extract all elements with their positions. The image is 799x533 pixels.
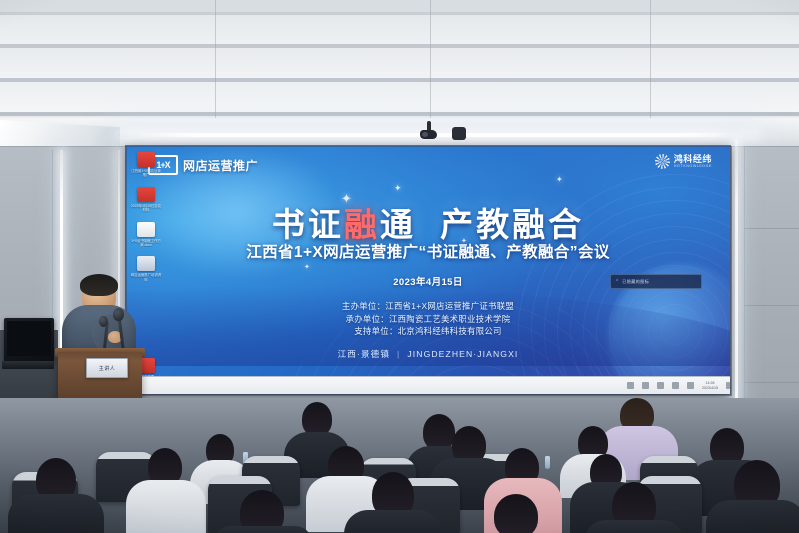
- tray-tooltip-label: 已隐藏的图标: [622, 279, 649, 285]
- screen-logo-right: 鸿科经纬 HOTKNOWLEDGE: [655, 154, 712, 169]
- place-en: JINGDEZHEN·JIANGXI: [407, 349, 518, 359]
- document-icon: [137, 222, 155, 237]
- desktop-icon[interactable]: 网店运营推广培训资料: [130, 256, 162, 282]
- chevron-up-icon[interactable]: [627, 382, 634, 389]
- water-bottle: [545, 456, 550, 469]
- desktop-icon[interactable]: 1+X证书制度工作方案.docx: [130, 222, 162, 248]
- nameplate-text: 主讲人: [99, 365, 116, 372]
- headline-part3: 产教融合: [440, 206, 584, 243]
- sparkle-icon: ✦: [394, 184, 402, 193]
- ceiling-led-light: [118, 133, 758, 137]
- wall-led-light: [735, 140, 738, 440]
- speaker-hair: [80, 274, 118, 296]
- place-cn: 江西·景德镇: [338, 349, 390, 359]
- document-icon: [137, 256, 155, 271]
- organizer-line: 主办单位：江西省1+X网店运营推广证书联盟: [126, 300, 730, 313]
- screen-organizers: 主办单位：江西省1+X网店运营推广证书联盟 承办单位：江西陶瓷工艺美术职业技术学…: [126, 300, 730, 338]
- desktop-icon[interactable]: 2023年4月15日会议材料: [130, 187, 162, 213]
- audience-member: [302, 402, 332, 436]
- battery-icon[interactable]: [672, 382, 679, 389]
- headline-part1: 书证: [272, 206, 344, 243]
- sponsor-subname: HOTKNOWLEDGE: [674, 165, 712, 169]
- screen-place: 江西·景德镇|JINGDEZHEN·JIANGXI: [126, 348, 730, 360]
- desktop-icon-label: 2023年4月15日会议材料: [130, 204, 162, 213]
- desktop-icon-label: 网店运营推广培训资料: [130, 273, 162, 282]
- audience-member: [423, 414, 455, 450]
- control-keyboard: [2, 361, 54, 369]
- wall-panel-line: [744, 382, 799, 383]
- audience-member-shoulders: [8, 494, 104, 533]
- sparkle-icon: ✦: [556, 176, 563, 184]
- sparkle-icon: ✦: [304, 264, 310, 271]
- sponsor-name: 鸿科经纬: [674, 155, 712, 164]
- screen-subtitle: 江西省1+X网店运营推广“书证融通、产教融合”会议: [126, 240, 730, 262]
- microphone-icon: [113, 308, 124, 321]
- audience-member-shoulders: [214, 526, 312, 533]
- input-method-icon[interactable]: [687, 382, 694, 389]
- headline-part2: 通: [380, 206, 416, 243]
- volume-icon[interactable]: [657, 382, 664, 389]
- presentation-screen[interactable]: ✦ ✦ ✦ ✦ ✦ 1+X 网店运营推广 鸿科经纬 HOTKNOWLEDGE 书…: [126, 146, 730, 394]
- screen-logo-left-label: 网店运营推广: [183, 157, 258, 174]
- headline-highlight: 融: [344, 206, 380, 243]
- screen-headline: 书证融通 产教融合: [126, 198, 730, 246]
- control-monitor: [4, 318, 54, 362]
- audience-member: [494, 494, 538, 533]
- audience-area: [0, 398, 799, 533]
- audience-member-shoulders: [706, 500, 799, 533]
- audience-member-shoulders: [126, 480, 206, 533]
- tray-overflow-popup[interactable]: ⌃ 已隐藏的图标: [610, 274, 702, 289]
- conference-photo: ✦ ✦ ✦ ✦ ✦ 1+X 网店运营推广 鸿科经纬 HOTKNOWLEDGE 书…: [0, 0, 799, 533]
- desktop-icon[interactable]: 江西省1+X网店运营推广: [130, 152, 162, 178]
- ceiling-camera-icon: [420, 121, 437, 143]
- ceiling-camera-mount: [452, 127, 466, 140]
- wall-panel-line: [744, 305, 799, 306]
- os-taskbar[interactable]: 14:28 2023/4/15: [126, 376, 730, 394]
- microphone-icon: [99, 316, 108, 327]
- document-icon: [137, 152, 155, 167]
- wall-panel-line: [744, 228, 799, 229]
- place-separator: |: [397, 349, 400, 359]
- organizer-line: 支持单位：北京鸿科经纬科技有限公司: [126, 325, 730, 338]
- desktop-icon-label: 1+X证书制度工作方案.docx: [130, 239, 162, 248]
- desktop-icon-label: 江西省1+X网店运营推广: [130, 169, 162, 178]
- desktop-icon-column[interactable]: 江西省1+X网店运营推广 2023年4月15日会议材料 1+X证书制度工作方案.…: [130, 152, 162, 291]
- screen-logo-left: 1+X 网店运营推广: [148, 155, 258, 175]
- podium-nameplate: 主讲人: [86, 358, 128, 378]
- clock-date: 2023/4/15: [702, 386, 718, 391]
- audience-member-shoulders: [584, 520, 684, 533]
- organizer-line: 承办单位：江西陶瓷工艺美术职业技术学院: [126, 313, 730, 326]
- audience-member-shoulders: [344, 510, 442, 533]
- network-icon[interactable]: [642, 382, 649, 389]
- taskbar-clock[interactable]: 14:28 2023/4/15: [702, 381, 718, 390]
- show-desktop-button[interactable]: [726, 382, 730, 389]
- chevron-up-icon: ⌃: [615, 279, 619, 285]
- swirl-icon: [655, 154, 670, 169]
- document-icon: [137, 187, 155, 202]
